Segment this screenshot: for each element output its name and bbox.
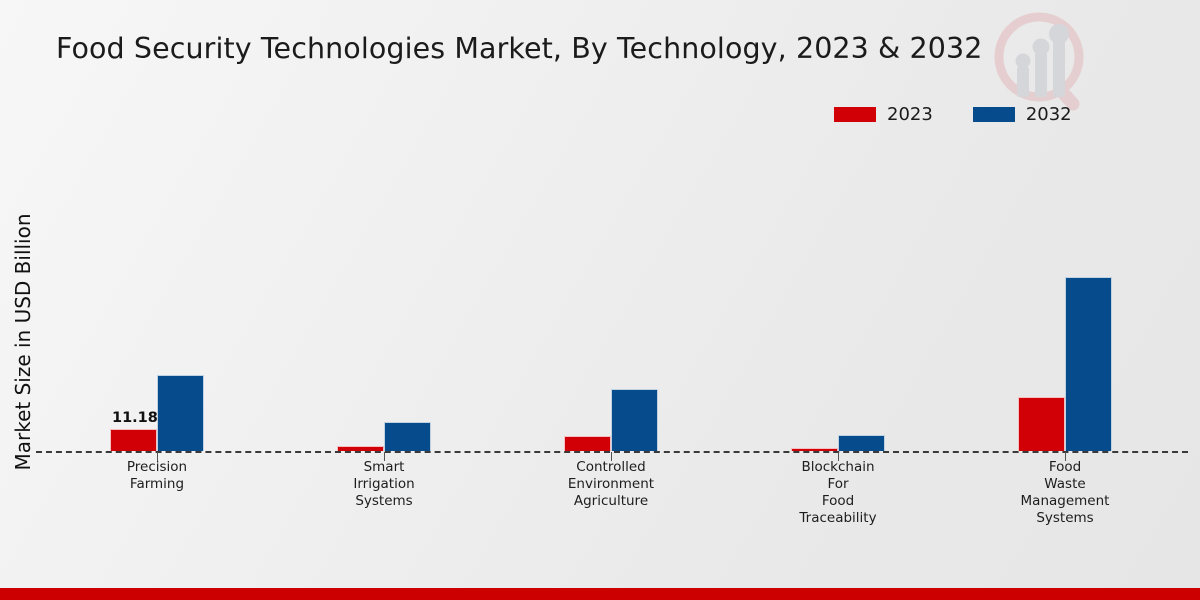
- category-label-precision-farming: Precision Farming: [77, 459, 237, 493]
- axis-baseline: [36, 451, 1188, 453]
- category-label-blockchain-for-food-traceability: Blockchain For Food Traceability: [758, 459, 918, 527]
- bar-2023-controlled-environment-agriculture[interactable]: [564, 436, 611, 451]
- bar-2032-food-waste-management-systems[interactable]: [1065, 277, 1112, 451]
- bar-2032-blockchain-for-food-traceability[interactable]: [838, 435, 885, 451]
- bar-2032-controlled-environment-agriculture[interactable]: [611, 389, 658, 451]
- footer-stripe: [0, 588, 1200, 600]
- chart-page: Food Security Technologies Market, By Te…: [0, 0, 1200, 600]
- category-label-food-waste-management-systems: Food Waste Management Systems: [980, 459, 1150, 527]
- bar-2023-smart-irrigation-systems[interactable]: [337, 446, 384, 451]
- bar-value-label: 11.18: [112, 410, 158, 426]
- plot-area: 11.18 Precision Farming Smart Irrigation…: [0, 0, 1200, 600]
- category-label-controlled-environment-agriculture: Controlled Environment Agriculture: [526, 459, 696, 510]
- bar-2032-precision-farming[interactable]: [157, 375, 204, 451]
- bar-2023-blockchain-for-food-traceability[interactable]: [791, 448, 838, 451]
- bar-2032-smart-irrigation-systems[interactable]: [384, 422, 431, 451]
- category-label-smart-irrigation-systems: Smart Irrigation Systems: [304, 459, 464, 510]
- bar-2023-food-waste-management-systems[interactable]: [1018, 397, 1065, 451]
- bar-2023-precision-farming[interactable]: [110, 429, 157, 451]
